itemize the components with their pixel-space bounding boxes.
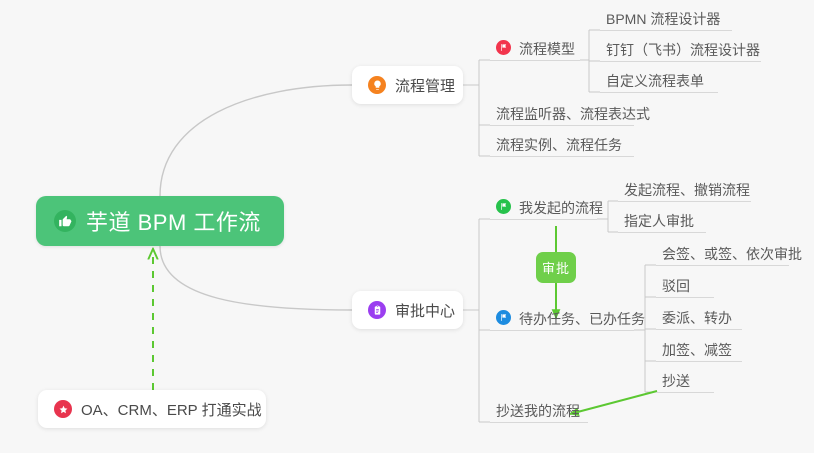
node-process-instance-task[interactable]: 流程实例、流程任务 — [490, 132, 634, 157]
node-label: BPMN 流程设计器 — [606, 12, 720, 26]
node-label: OA、CRM、ERP 打通实战 — [81, 399, 262, 420]
node-label: 会签、或签、依次审批 — [662, 247, 802, 261]
node-label: 发起流程、撤销流程 — [624, 183, 750, 197]
node-todo-done-task[interactable]: 待办任务、已办任务 — [490, 306, 634, 331]
node-custom-process-form[interactable]: 自定义流程表单 — [600, 68, 718, 93]
root-node[interactable]: 芋道 BPM 工作流 — [36, 196, 284, 246]
node-process-model[interactable]: 流程模型 — [490, 36, 580, 61]
mindmap-canvas: 芋道 BPM 工作流 流程管理 审批中心 OA、CRM、ERP 打通实战 — [0, 0, 814, 453]
flag-icon — [496, 310, 511, 325]
approval-arrow-badge: 审批 — [536, 252, 576, 283]
node-integration-note[interactable]: OA、CRM、ERP 打通实战 — [38, 390, 266, 428]
node-label: 流程监听器、流程表达式 — [496, 107, 650, 121]
node-label: 钉钉（飞书）流程设计器 — [606, 43, 760, 57]
approval-arrow-badge-label: 审批 — [542, 258, 570, 277]
node-label: 抄送 — [662, 374, 690, 388]
node-label: 抄送我的流程 — [496, 404, 580, 418]
node-label: 我发起的流程 — [519, 201, 603, 215]
node-label: 委派、转办 — [662, 311, 732, 325]
node-label: 审批中心 — [395, 300, 455, 321]
node-multi-approval-modes[interactable]: 会签、或签、依次审批 — [656, 241, 789, 266]
thumbs-up-icon — [54, 210, 76, 232]
node-label: 驳回 — [662, 279, 690, 293]
node-label: 自定义流程表单 — [606, 74, 704, 88]
node-approval-center[interactable]: 审批中心 — [352, 291, 463, 329]
root-label: 芋道 BPM 工作流 — [86, 205, 261, 237]
link-root-to-process-management — [160, 85, 352, 196]
node-dingtalk-feishu-designer[interactable]: 钉钉（飞书）流程设计器 — [600, 37, 761, 62]
node-label: 流程实例、流程任务 — [496, 138, 622, 152]
node-label: 流程管理 — [395, 75, 455, 96]
clipboard-icon — [368, 301, 386, 319]
node-process-management[interactable]: 流程管理 — [352, 66, 463, 104]
node-label: 流程模型 — [519, 42, 575, 56]
node-process-listener-expression[interactable]: 流程监听器、流程表达式 — [490, 101, 634, 126]
link-root-to-approval-center — [160, 246, 352, 310]
flag-icon — [496, 40, 511, 55]
node-reject[interactable]: 驳回 — [656, 273, 714, 298]
flag-icon — [496, 199, 511, 214]
node-cc[interactable]: 抄送 — [656, 368, 714, 393]
node-delegate-transfer[interactable]: 委派、转办 — [656, 305, 742, 330]
node-add-remove-sign[interactable]: 加签、减签 — [656, 337, 742, 362]
node-assignee-approval[interactable]: 指定人审批 — [618, 208, 706, 233]
node-cc-to-me-process[interactable]: 抄送我的流程 — [490, 398, 588, 423]
node-bpmn-designer[interactable]: BPMN 流程设计器 — [600, 6, 732, 31]
lightbulb-icon — [368, 76, 386, 94]
node-label: 指定人审批 — [624, 214, 694, 228]
node-label: 加签、减签 — [662, 343, 732, 357]
star-icon — [54, 400, 72, 418]
node-start-cancel-process[interactable]: 发起流程、撤销流程 — [618, 177, 751, 202]
node-my-started-process[interactable]: 我发起的流程 — [490, 195, 597, 220]
node-label: 待办任务、已办任务 — [519, 312, 645, 326]
